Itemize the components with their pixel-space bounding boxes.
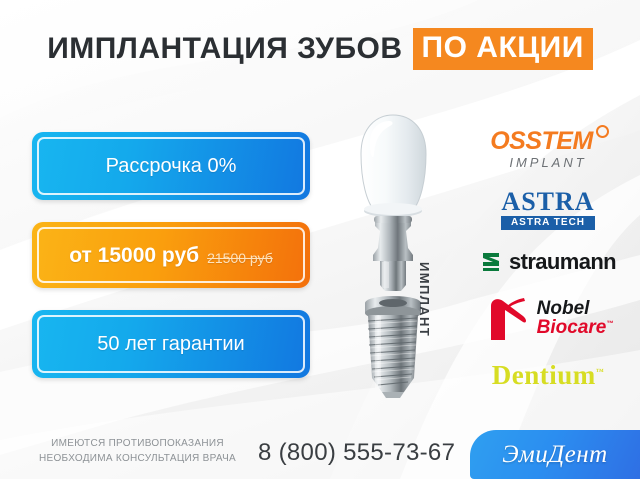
straumann-s-icon bbox=[480, 250, 502, 274]
trademark-symbol: ™ bbox=[596, 367, 605, 376]
brand-logo-nobel-biocare: Nobel Biocare™ bbox=[462, 288, 634, 348]
disclaimer: ИМЕЮТСЯ ПРОТИВОПОКАЗАНИЯ НЕОБХОДИМА КОНС… bbox=[30, 437, 245, 466]
headline: ИМПЛАНТАЦИЯ ЗУБОВ ПО АКЦИИ bbox=[0, 26, 640, 72]
clinic-logo-badge[interactable]: ЭмиДент bbox=[470, 430, 640, 479]
straumann-name: straumann bbox=[509, 251, 616, 273]
headline-main-text: ИМПЛАНТАЦИЯ ЗУБОВ bbox=[47, 34, 402, 64]
trademark-symbol: ™ bbox=[606, 321, 613, 328]
implant-vertical-label: ИМПЛАНТ bbox=[418, 262, 431, 337]
price-new: от 15000 руб bbox=[69, 244, 199, 267]
price-group: от 15000 руб21500 руб bbox=[69, 245, 272, 266]
feature-box-warranty[interactable]: 50 лет гарантии bbox=[32, 310, 310, 378]
feature-box-price[interactable]: от 15000 руб21500 руб bbox=[32, 222, 310, 288]
osstem-name: OSSTEM bbox=[490, 127, 593, 155]
nobel-subtitle-text: Biocare bbox=[537, 317, 607, 338]
headline-promo-badge: ПО АКЦИИ bbox=[413, 28, 593, 70]
disclaimer-line-2: НЕОБХОДИМА КОНСУЛЬТАЦИЯ ВРАЧА bbox=[30, 452, 245, 467]
feature-box-installment[interactable]: Рассрочка 0% bbox=[32, 132, 310, 200]
nobel-biocare-wordmark: Nobel Biocare™ bbox=[537, 299, 614, 337]
disclaimer-line-1: ИМЕЮТСЯ ПРОТИВОПОКАЗАНИЯ bbox=[30, 437, 245, 452]
price-old: 21500 руб bbox=[207, 250, 273, 266]
osstem-dot-icon bbox=[596, 125, 609, 138]
phone-number[interactable]: 8 (800) 555-73-67 bbox=[258, 441, 455, 465]
nobel-biocare-swoosh-icon bbox=[483, 292, 533, 344]
nobel-name: Nobel bbox=[537, 299, 614, 318]
dentium-name-text: Dentium bbox=[492, 360, 596, 390]
advertisement-banner: ИМПЛАНТАЦИЯ ЗУБОВ ПО АКЦИИ Рассрочка 0% … bbox=[0, 0, 640, 479]
implant-svg bbox=[330, 110, 460, 402]
brand-logo-straumann: straumann bbox=[462, 240, 634, 284]
brand-logo-osstem: OSSTEM IMPLANT bbox=[462, 118, 634, 180]
brand-logo-dentium: Dentium™ bbox=[462, 352, 634, 398]
astra-subtitle: ASTRA TECH bbox=[501, 216, 595, 230]
dentium-name: Dentium™ bbox=[492, 362, 605, 389]
feature-label-warranty: 50 лет гарантии bbox=[97, 334, 244, 354]
nobel-subtitle: Biocare™ bbox=[537, 318, 614, 337]
clinic-logo-text: ЭмиДент bbox=[502, 442, 607, 467]
brand-logo-astra: ASTRA ASTRA TECH bbox=[462, 184, 634, 234]
osstem-wordmark: OSSTEM bbox=[490, 129, 606, 154]
astra-name: ASTRA bbox=[501, 189, 594, 215]
feature-label-installment: Рассрочка 0% bbox=[106, 156, 237, 176]
brand-logos: OSSTEM IMPLANT ASTRA ASTRA TECH strauman… bbox=[462, 118, 634, 406]
dental-implant-illustration bbox=[330, 110, 460, 402]
osstem-subtitle: IMPLANT bbox=[509, 156, 586, 169]
